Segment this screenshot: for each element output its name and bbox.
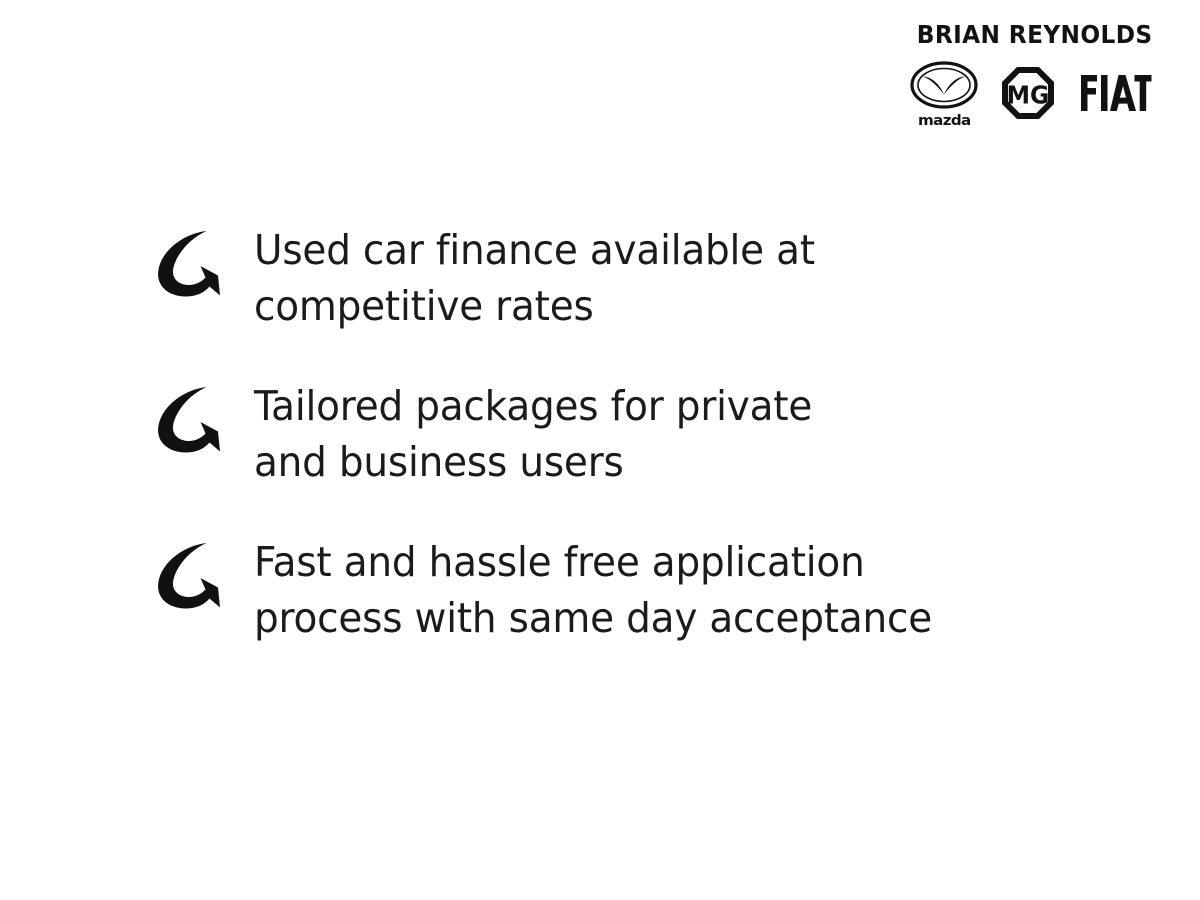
fiat-logo xyxy=(1078,69,1152,121)
svg-text:MG: MG xyxy=(1007,79,1050,109)
bullet-text: Used car finance available at competitiv… xyxy=(254,222,1065,334)
curved-arrow-icon xyxy=(148,228,236,306)
mazda-wordmark: mazda xyxy=(918,114,971,128)
bullet-item: Used car finance available at competitiv… xyxy=(148,222,1108,334)
brand-name: BRIAN REYNOLDS xyxy=(916,22,1152,47)
curved-arrow-icon xyxy=(148,540,236,618)
bullet-item: Fast and hassle free application process… xyxy=(148,534,1108,646)
brand-header: BRIAN REYNOLDS mazda xyxy=(899,22,1152,128)
mg-logo: MG xyxy=(1000,65,1056,125)
mazda-logo xyxy=(910,61,978,113)
bullet-list: Used car finance available at competitiv… xyxy=(148,222,1108,646)
mg-logo-slot: MG xyxy=(1000,65,1056,125)
bullet-text: Fast and hassle free application process… xyxy=(254,534,1065,646)
mazda-logo-slot: mazda xyxy=(910,61,978,128)
brand-logo-row: mazda MG xyxy=(910,61,1152,128)
bullet-item: Tailored packages for private and busine… xyxy=(148,378,1108,490)
curved-arrow-icon xyxy=(148,384,236,462)
bullet-text: Tailored packages for private and busine… xyxy=(254,378,1065,490)
fiat-logo-slot xyxy=(1078,69,1152,121)
